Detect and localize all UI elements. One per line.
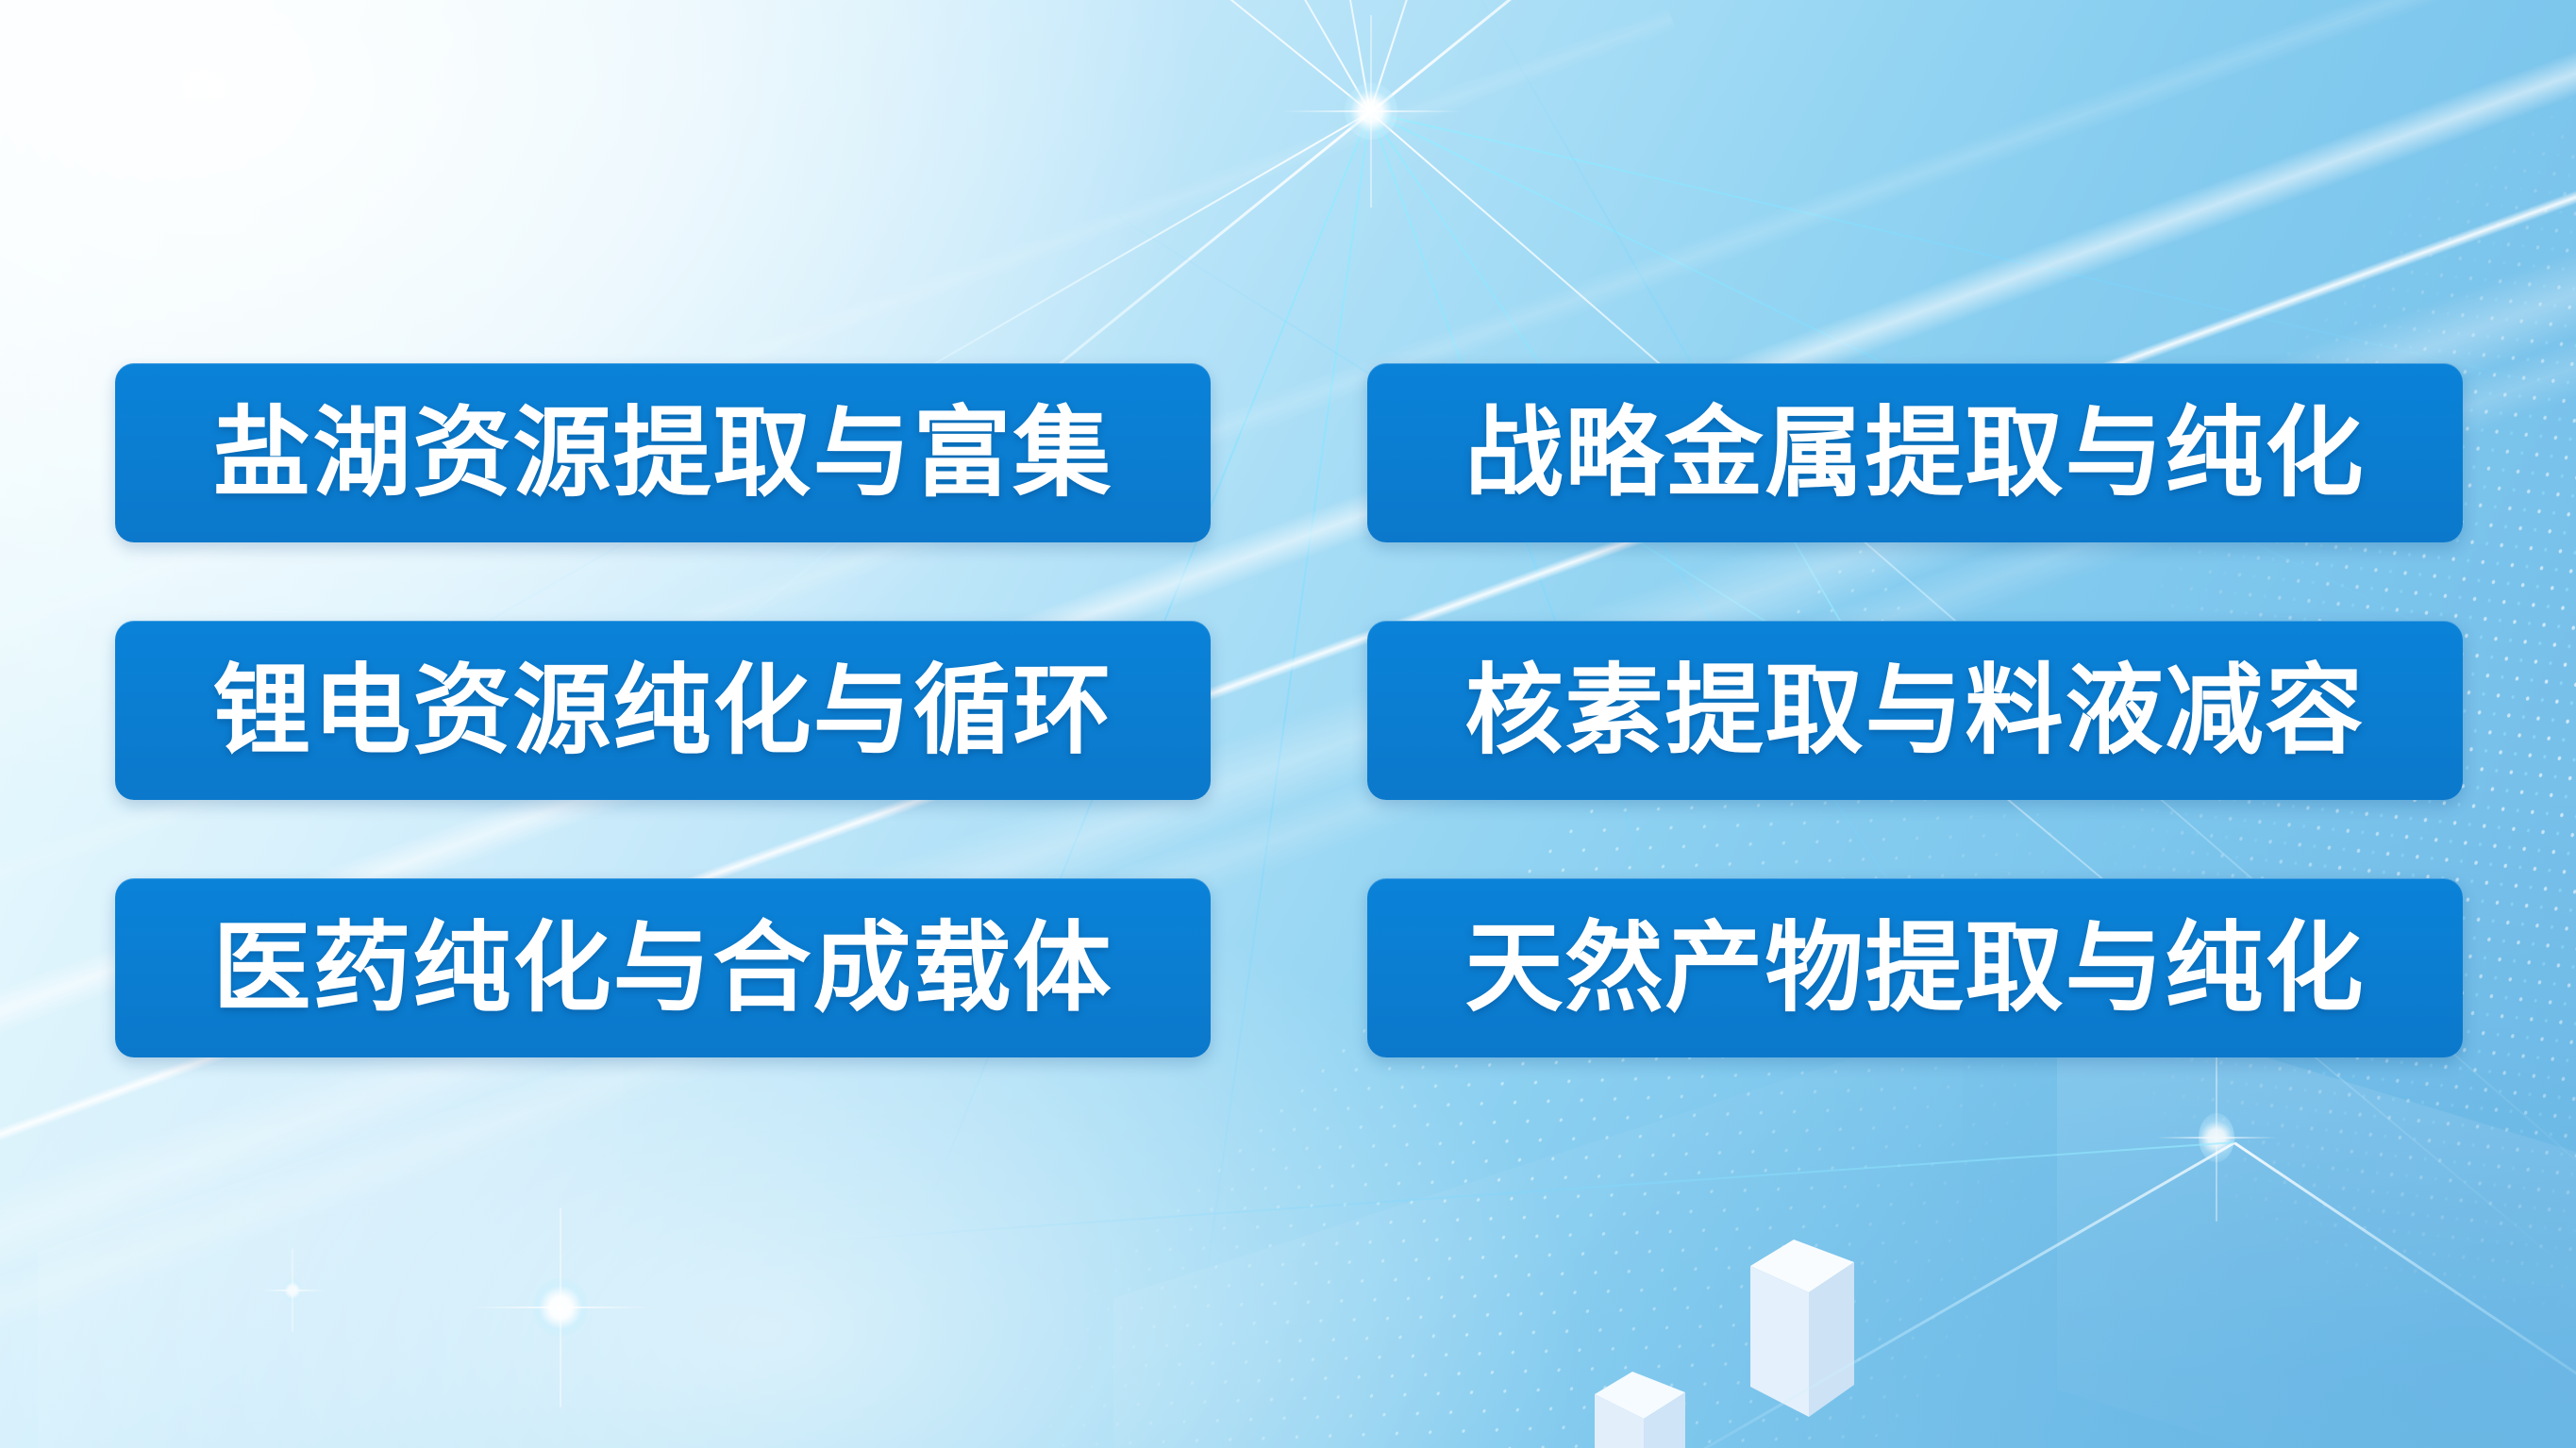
topic-pill-grid: 盐湖资源提取与富集 战略金属提取与纯化 锂电资源纯化与循环 核素提取与料液减容 … [115,363,2463,1057]
pill-label: 锂电资源纯化与循环 [212,661,1112,759]
pill-nuclide-extraction-feed-liquid-volume-reduction[interactable]: 核素提取与料液减容 [1367,621,2463,800]
pill-lithium-battery-resource-purification-recycling[interactable]: 锂电资源纯化与循环 [115,621,1211,800]
pill-strategic-metal-extraction-purification[interactable]: 战略金属提取与纯化 [1367,363,2463,542]
pill-natural-product-extraction-purification[interactable]: 天然产物提取与纯化 [1367,878,2463,1057]
slide-canvas: 盐湖资源提取与富集 战略金属提取与纯化 锂电资源纯化与循环 核素提取与料液减容 … [0,0,2576,1448]
pill-label: 盐湖资源提取与富集 [212,404,1112,502]
pill-pharmaceutical-purification-synthesis-carrier[interactable]: 医药纯化与合成载体 [115,878,1211,1057]
cube-block-front [1595,1370,1685,1448]
light-beam-4 [86,0,1370,113]
pill-salt-lake-resource-extraction-enrichment[interactable]: 盐湖资源提取与富集 [115,363,1211,542]
pill-label: 战略金属提取与纯化 [1464,404,2365,502]
pill-label: 医药纯化与合成载体 [212,919,1112,1017]
pill-label: 天然产物提取与纯化 [1464,919,2365,1017]
pill-label: 核素提取与料液减容 [1464,661,2365,759]
